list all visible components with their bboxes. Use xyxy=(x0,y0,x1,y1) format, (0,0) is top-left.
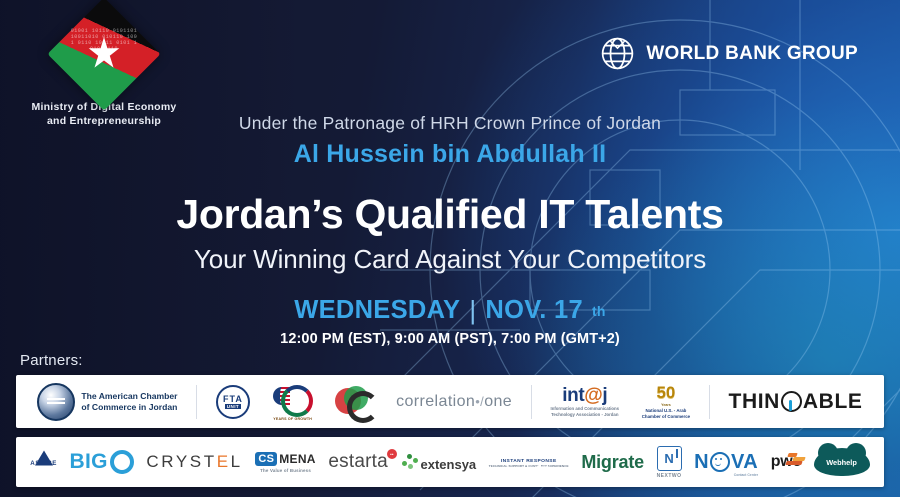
nova-name-post: VA xyxy=(731,451,758,474)
fta-mark-bottom: UNIT xyxy=(225,404,241,409)
partners-row-1: The American Chamber of Commerce in Jord… xyxy=(16,375,884,428)
partner-logo-cg[interactable] xyxy=(331,375,377,428)
world-bank-group-logo: WORLD BANK GROUP xyxy=(600,36,858,71)
aspire-label: ASPIRE xyxy=(30,458,57,467)
crystel-name-pre: CRYST xyxy=(146,452,216,471)
partner-logo-extensya[interactable]: extensya xyxy=(397,437,481,487)
partner-logo-webhelp[interactable]: Webhelp xyxy=(810,437,874,487)
instant-response-tagline: TECHNICAL SUPPORT & CUSTOMER EXPERIENCE xyxy=(489,464,569,468)
partner-logo-nova[interactable]: NVAContact Center xyxy=(690,437,762,487)
cg-circles-icon xyxy=(335,386,373,418)
migrate-wordmark: Migrate xyxy=(581,452,644,473)
thinqable-name-pre: THIN xyxy=(729,390,780,414)
estarta-wordmark: estarta•• xyxy=(328,451,388,473)
partner-logo-instant-response[interactable]: INSTANT RESPONSE TECHNICAL SUPPORT & CUS… xyxy=(485,437,573,487)
extensya-label: extensya xyxy=(401,452,477,472)
crystel-name-e: E xyxy=(217,452,231,471)
world-bank-group-text: WORLD BANK GROUP xyxy=(646,43,858,65)
20-years-anniversary-icon: YEARS OF GROWTH xyxy=(273,384,313,420)
partner-logo-csmena[interactable]: CS MENA The Value of Business xyxy=(251,437,319,487)
fta-unit-icon: FTA UNIT xyxy=(216,385,250,419)
intaj-subtitle: Information and Communications Technolog… xyxy=(551,406,620,417)
extensya-leaf-icon xyxy=(401,452,419,472)
csmena-wordmark: CS MENA xyxy=(255,452,315,466)
thinqable-q-icon xyxy=(781,391,802,412)
partners-row-2: ASPIRE BIG CRYSTEL CS MENA The Value of … xyxy=(16,437,884,487)
partner-logo-bigo[interactable]: BIG xyxy=(66,437,138,487)
nusacc-subtitle-line2: Chamber of Commerce xyxy=(642,414,690,420)
partner-logo-nextwo[interactable]: N NEXTWO xyxy=(653,437,686,487)
correlation-one-name: correlation xyxy=(396,393,475,410)
intaj-wordmark: int@j xyxy=(562,385,607,406)
intaj-subtitle-line2: Technology Association - Jordan xyxy=(551,412,620,417)
nova-name-pre: N xyxy=(694,451,709,474)
page-subtitle: Your Winning Card Against Your Competito… xyxy=(0,244,900,275)
amcham-label-line2: of Commerce in Jordan xyxy=(81,402,177,413)
nova-subtitle: Contact Center xyxy=(734,473,758,477)
partner-logo-aspire[interactable]: ASPIRE xyxy=(26,437,61,487)
nova-smiley-icon xyxy=(710,452,730,472)
estarta-name: estarta xyxy=(328,451,388,472)
thinqable-name-post: ABLE xyxy=(803,390,863,414)
partner-logo-amcham[interactable]: The American Chamber of Commerce in Jord… xyxy=(33,375,181,428)
instant-response-label: INSTANT RESPONSE TECHNICAL SUPPORT & CUS… xyxy=(489,457,569,468)
estarta-dot-icon: •• xyxy=(387,449,397,459)
amcham-seal-icon xyxy=(37,383,75,421)
webhelp-name: Webhelp xyxy=(814,458,870,467)
csmena-badge: CS xyxy=(255,452,277,466)
crystel-name-post: L xyxy=(231,452,243,471)
csmena-label: CS MENA The Value of Business xyxy=(255,452,315,473)
jordan-star-diamond-icon: 01001 10110 0101101 10011010 010110 1001… xyxy=(47,0,160,111)
partner-logo-anniversary[interactable]: YEARS OF GROWTH xyxy=(269,375,317,428)
correlation-one-label: correlation•/one xyxy=(396,393,512,411)
anniversary-ring xyxy=(281,385,313,417)
correlation-one-dot: •/ xyxy=(475,394,484,409)
royal-name: Al Hussein bin Abdullah II xyxy=(0,140,900,169)
intaj-name-post: j xyxy=(602,385,607,406)
partner-logo-migrate[interactable]: Migrate xyxy=(577,437,648,487)
pwc-label: pwc xyxy=(771,453,801,471)
webhelp-label: Webhelp xyxy=(814,445,870,479)
partner-logo-thinqable[interactable]: THINABLE xyxy=(725,375,867,428)
nextwo-caption: NEXTWO xyxy=(657,473,682,479)
thinqable-wordmark: THINABLE xyxy=(729,390,863,414)
partner-logo-nusacc[interactable]: 50 Years National U.S. - Arab Chamber of… xyxy=(638,375,694,428)
event-copy: Under the Patronage of HRH Crown Prince … xyxy=(0,113,900,347)
nusacc-anniversary-number: 50 xyxy=(656,383,675,402)
divider xyxy=(196,385,197,419)
correlation-one-suffix: one xyxy=(484,393,512,410)
partner-logo-correlation-one[interactable]: correlation•/one xyxy=(392,375,516,428)
divider xyxy=(709,385,710,419)
page-title: Jordan’s Qualified IT Talents xyxy=(0,193,900,236)
partner-logo-intaj[interactable]: int@j Information and Communications Tec… xyxy=(547,375,624,428)
event-date: WEDNESDAY | NOV. 17th xyxy=(0,295,900,326)
event-day: WEDNESDAY xyxy=(294,296,460,325)
csmena-name: MENA xyxy=(279,452,316,466)
nextwo-label: N NEXTWO xyxy=(657,446,682,479)
bigo-wordmark: BIG xyxy=(70,450,134,474)
fta-mark-top: FTA xyxy=(223,395,243,404)
bigo-o-icon xyxy=(110,450,134,474)
patronage-text: Under the Patronage of HRH Crown Prince … xyxy=(0,113,900,134)
partner-logo-crystel[interactable]: CRYSTEL xyxy=(142,437,246,487)
date-separator: | xyxy=(469,295,476,326)
bigo-name-pre: BIG xyxy=(70,450,108,474)
nextwo-mark-icon: N xyxy=(657,446,682,471)
partner-logo-fta[interactable]: FTA UNIT xyxy=(212,375,254,428)
ministry-logo: 01001 10110 0101101 10011010 010110 1001… xyxy=(20,14,188,128)
intaj-subtitle-line1: Information and Communications xyxy=(551,406,620,411)
crystel-wordmark: CRYSTEL xyxy=(146,452,242,472)
event-banner: 01001 10110 0101101 10011010 010110 1001… xyxy=(0,0,900,497)
amcham-label-line1: The American Chamber xyxy=(81,391,177,402)
anniversary-caption: YEARS OF GROWTH xyxy=(273,417,313,421)
amcham-label: The American Chamber of Commerce in Jord… xyxy=(81,391,177,413)
nusacc-label: 50 Years National U.S. - Arab Chamber of… xyxy=(642,384,690,419)
partner-logo-estarta[interactable]: estarta•• xyxy=(324,437,392,487)
intaj-label: int@j Information and Communications Tec… xyxy=(551,386,620,417)
csmena-tagline: The Value of Business xyxy=(255,468,315,473)
globe-icon xyxy=(600,36,635,71)
event-date-ordinal: th xyxy=(592,303,606,319)
instant-response-name: INSTANT RESPONSE xyxy=(489,459,569,464)
event-month-day: NOV. 17 xyxy=(485,296,583,325)
intaj-name-pre: int xyxy=(562,385,584,406)
extensya-name: extensya xyxy=(421,457,477,472)
nusacc-subtitle: National U.S. - Arab Chamber of Commerce xyxy=(642,408,690,419)
event-times: 12:00 PM (EST), 9:00 AM (PST), 7:00 PM (… xyxy=(0,331,900,347)
nova-wordmark: NVAContact Center xyxy=(694,451,758,474)
nusacc-subtitle-line1: National U.S. - Arab xyxy=(642,408,690,414)
divider xyxy=(531,385,532,419)
partners-label: Partners: xyxy=(20,352,83,369)
partner-logo-pwc[interactable]: pwc xyxy=(767,437,805,487)
at-sign-icon: @ xyxy=(584,385,602,406)
